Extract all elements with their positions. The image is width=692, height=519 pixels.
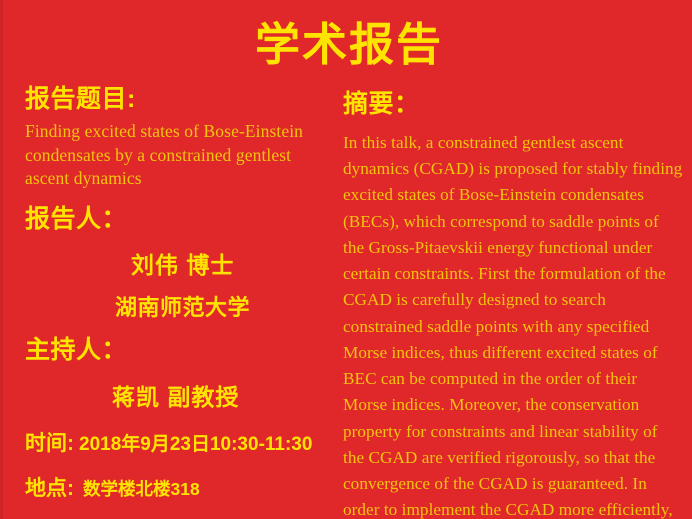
host-section: 主持人： 蒋凯 副教授 [25,335,335,411]
talk-title-value: Finding excited states of Bose-Einstein … [25,120,335,190]
talk-title-label: 报告题目: [25,84,335,115]
host-name: 蒋凯 副教授 [112,378,335,412]
page-title: 学术报告 [3,18,692,71]
talk-title-section: 报告题目: Finding excited states of Bose-Ein… [25,84,335,190]
abstract-label: 摘要： [343,84,683,120]
speaker-affiliation: 湖南师范大学 [115,290,335,322]
speaker-label: 报告人： [25,204,335,235]
location-value: 数学楼北楼318 [83,479,200,499]
abstract-text: In this talk, a constrained gentlest asc… [343,130,683,519]
seminar-poster: 学术报告 报告题目: Finding excited states of Bos… [0,0,692,519]
time-line: 时间:2018年9月23日10:30-11:30 [25,427,335,457]
time-value: 2018年9月23日10:30-11:30 [79,434,312,455]
location-line: 地点:数学楼北楼318 [25,472,335,502]
left-column: 报告题目: Finding excited states of Bose-Ein… [25,84,335,502]
time-label: 时间: [25,432,74,455]
host-label: 主持人： [25,335,335,366]
right-column: 摘要： In this talk, a constrained gentlest… [343,84,683,519]
speaker-section: 报告人： 刘伟 博士 湖南师范大学 [25,204,335,322]
speaker-name: 刘伟 博士 [131,246,335,280]
location-label: 地点: [25,477,74,500]
